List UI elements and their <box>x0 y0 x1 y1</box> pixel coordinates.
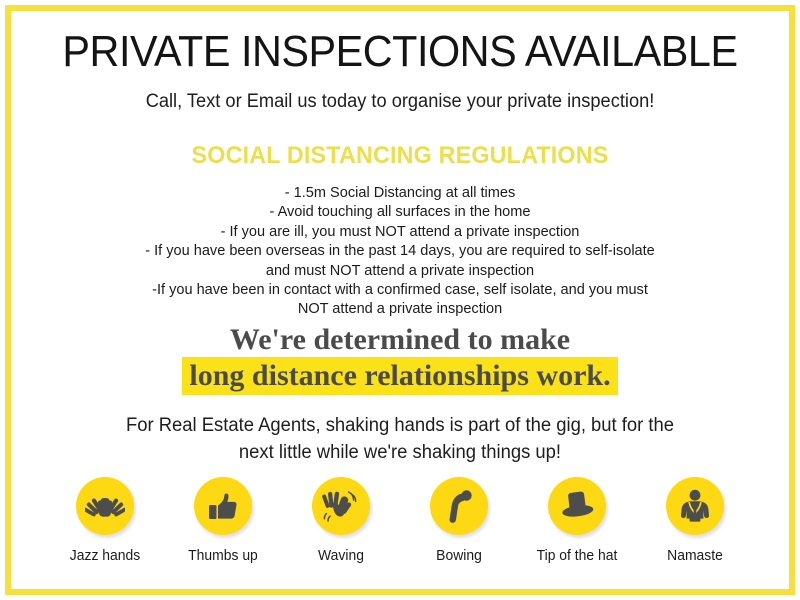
closing-paragraph: For Real Estate Agents, shaking hands is… <box>23 412 778 466</box>
poster: PRIVATE INSPECTIONS AVAILABLE Call, Text… <box>0 0 800 600</box>
tagline-line-2-wrapper: long distance relationships work. <box>11 360 789 392</box>
regulation-line: NOT attend a private inspection <box>23 299 778 318</box>
regulations-heading: SOCIAL DISTANCING REGULATIONS <box>23 141 778 171</box>
closing-line: For Real Estate Agents, shaking hands is… <box>23 412 778 439</box>
regulation-line: - If you are ill, you must NOT attend a … <box>23 222 778 241</box>
subtitle: Call, Text or Email us today to organise… <box>27 89 774 115</box>
jazz-hands-icon <box>85 489 125 523</box>
namaste-person-icon <box>677 488 713 524</box>
regulations-list: - 1.5m Social Distancing at all times - … <box>23 183 778 319</box>
greeting-alternatives-row: Jazz hands Thumbs up <box>17 477 783 565</box>
greeting-label: Thumbs up <box>166 548 279 565</box>
greeting-label: Namaste <box>638 548 751 565</box>
greeting-icon-badge <box>430 477 488 535</box>
regulation-line: -If you have been in contact with a conf… <box>23 280 778 299</box>
tagline: We're determined to make long distance r… <box>11 324 789 392</box>
greeting-icon-badge <box>76 477 134 535</box>
greeting-label: Bowing <box>402 548 515 565</box>
waving-hand-icon <box>322 488 360 524</box>
tagline-line-1: We're determined to make <box>230 323 570 356</box>
greeting-label: Jazz hands <box>48 548 161 565</box>
page-title: PRIVATE INSPECTIONS AVAILABLE <box>34 25 765 79</box>
regulation-line: - If you have been overseas in the past … <box>23 241 778 260</box>
greeting-icon-badge <box>194 477 252 535</box>
thumbs-up-icon <box>206 489 240 523</box>
greeting-label: Waving <box>284 548 397 565</box>
greeting-icon-badge <box>666 477 724 535</box>
greeting-item-thumbs-up: Thumbs up <box>164 477 282 565</box>
greeting-item-waving: Waving <box>282 477 400 565</box>
closing-line: next little while we're shaking things u… <box>23 439 778 466</box>
greeting-item-namaste: Namaste <box>636 477 754 565</box>
greeting-label: Tip of the hat <box>520 548 633 565</box>
greeting-icon-badge <box>548 477 606 535</box>
top-hat-icon <box>557 490 597 522</box>
greeting-item-bowing: Bowing <box>400 477 518 565</box>
regulation-line: - 1.5m Social Distancing at all times <box>23 183 778 202</box>
greeting-item-jazz-hands: Jazz hands <box>46 477 164 565</box>
regulation-line: - Avoid touching all surfaces in the hom… <box>23 202 778 221</box>
tagline-highlighted-text: long distance relationships work. <box>182 357 617 395</box>
greeting-item-tip-of-the-hat: Tip of the hat <box>518 477 636 565</box>
greeting-icon-badge <box>312 477 370 535</box>
poster-frame: PRIVATE INSPECTIONS AVAILABLE Call, Text… <box>5 5 795 595</box>
regulation-line: and must NOT attend a private inspection <box>23 261 778 280</box>
bowing-person-icon <box>443 488 475 524</box>
